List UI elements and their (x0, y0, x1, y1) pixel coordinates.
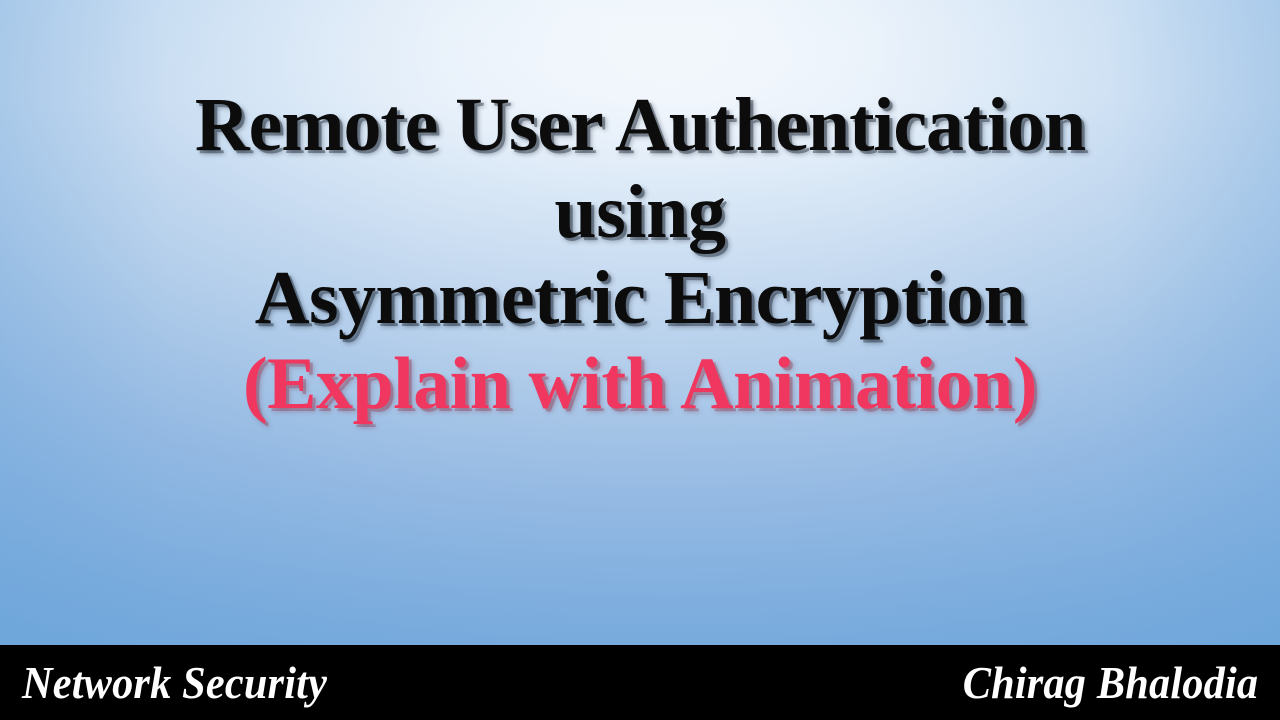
title-line-4-accent: (Explain with Animation) (0, 342, 1280, 426)
title-line-2: using (0, 169, 1280, 256)
slide-title-block: Remote User Authentication using Asymmet… (0, 82, 1280, 426)
presentation-slide: Remote User Authentication using Asymmet… (0, 0, 1280, 720)
title-line-3: Asymmetric Encryption (0, 255, 1280, 342)
footer-author-label: Chirag Bhalodia (962, 660, 1258, 706)
slide-footer-bar: Network Security Chirag Bhalodia (0, 645, 1280, 720)
title-line-1: Remote User Authentication (0, 82, 1280, 169)
footer-subject-label: Network Security (22, 660, 327, 706)
